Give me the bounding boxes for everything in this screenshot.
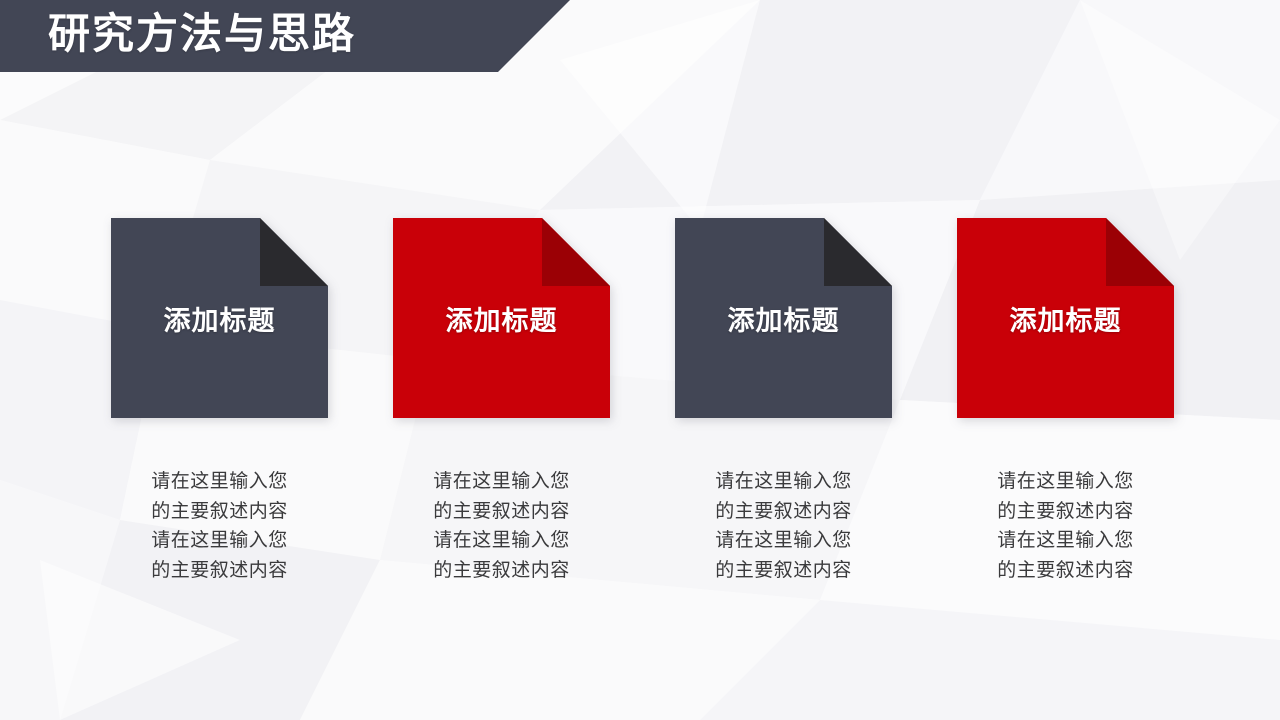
card-body-line: 请在这里输入您 [393, 526, 610, 556]
card-body-line: 的主要叙述内容 [957, 556, 1174, 586]
card-body-line: 的主要叙述内容 [111, 556, 328, 586]
card-body-line: 请在这里输入您 [111, 526, 328, 556]
card-body-line: 请在这里输入您 [957, 526, 1174, 556]
card-body-line: 的主要叙述内容 [675, 497, 892, 527]
card-item[interactable]: 添加标题 请在这里输入您 的主要叙述内容 请在这里输入您 的主要叙述内容 [111, 218, 328, 585]
card-body-line: 的主要叙述内容 [675, 556, 892, 586]
card-page-icon [957, 218, 1174, 418]
card-body-line: 的主要叙述内容 [111, 497, 328, 527]
card-body-line: 请在这里输入您 [111, 467, 328, 497]
card-item[interactable]: 添加标题 请在这里输入您 的主要叙述内容 请在这里输入您 的主要叙述内容 [957, 218, 1174, 585]
slide-canvas: 研究方法与思路 添加标题 请在这里输入您 的主要叙述内容 请在这里输入您 的主要… [0, 0, 1280, 720]
page-title: 研究方法与思路 [48, 0, 356, 72]
card-body-line: 请在这里输入您 [675, 526, 892, 556]
card-page-icon [675, 218, 892, 418]
card-body-line: 的主要叙述内容 [957, 497, 1174, 527]
card-page-icon [393, 218, 610, 418]
cards-row: 添加标题 请在这里输入您 的主要叙述内容 请在这里输入您 的主要叙述内容 添加标… [111, 218, 1174, 588]
card-body-line: 的主要叙述内容 [393, 497, 610, 527]
card-item[interactable]: 添加标题 请在这里输入您 的主要叙述内容 请在这里输入您 的主要叙述内容 [675, 218, 892, 585]
title-banner: 研究方法与思路 [0, 0, 570, 72]
card-folded-page-shape: 添加标题 [957, 218, 1174, 418]
card-body-line: 请在这里输入您 [393, 467, 610, 497]
card-body-line: 的主要叙述内容 [393, 556, 610, 586]
card-body-text: 请在这里输入您 的主要叙述内容 请在这里输入您 的主要叙述内容 [111, 467, 328, 585]
card-body-text: 请在这里输入您 的主要叙述内容 请在这里输入您 的主要叙述内容 [393, 467, 610, 585]
card-body-line: 请在这里输入您 [675, 467, 892, 497]
card-item[interactable]: 添加标题 请在这里输入您 的主要叙述内容 请在这里输入您 的主要叙述内容 [393, 218, 610, 585]
card-body-line: 请在这里输入您 [957, 467, 1174, 497]
card-folded-page-shape: 添加标题 [111, 218, 328, 418]
card-page-icon [111, 218, 328, 418]
card-folded-page-shape: 添加标题 [675, 218, 892, 418]
card-body-text: 请在这里输入您 的主要叙述内容 请在这里输入您 的主要叙述内容 [957, 467, 1174, 585]
card-folded-page-shape: 添加标题 [393, 218, 610, 418]
card-body-text: 请在这里输入您 的主要叙述内容 请在这里输入您 的主要叙述内容 [675, 467, 892, 585]
